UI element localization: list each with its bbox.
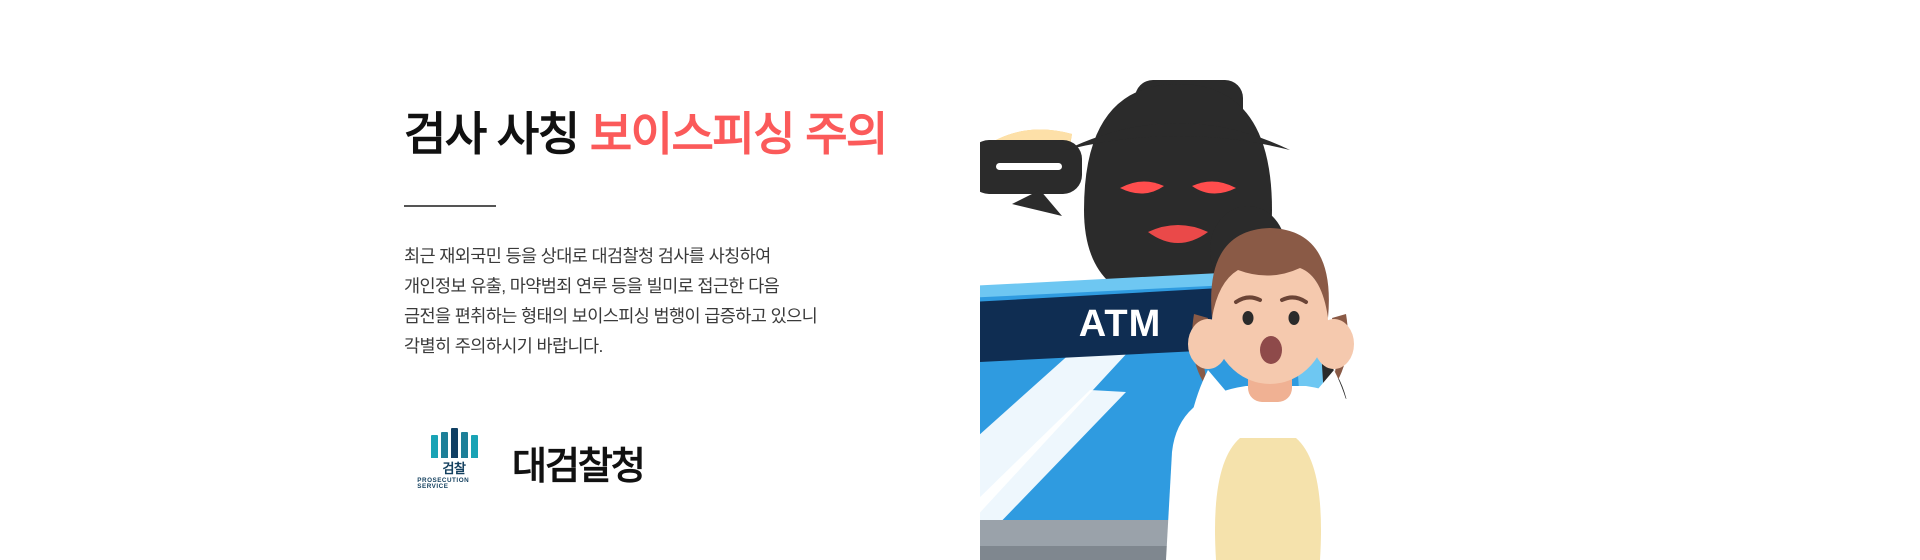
emblem-korean-label: 검찰 (443, 462, 466, 475)
body-line-2: 개인정보 유출, 마약범죄 연루 등을 빌미로 접근한 다음 (404, 271, 964, 301)
atm-label: ATM (1079, 303, 1162, 345)
copy-block: 검사 사칭 보이스피싱 주의 최근 재외국민 등을 상대로 대검찰청 검사를 사… (404, 108, 964, 361)
prosecution-service-logo: 검찰 PROSECUTION SERVICE 대검찰청 (418, 428, 644, 490)
speech-bubble-icon-2 (980, 140, 1082, 216)
emblem-english-label: PROSECUTION SERVICE (417, 478, 490, 490)
pillar-bars-icon (431, 428, 478, 458)
voice-phishing-warning-banner: 검사 사칭 보이스피싱 주의 최근 재외국민 등을 상대로 대검찰청 검사를 사… (0, 0, 1920, 560)
page-title: 검사 사칭 보이스피싱 주의 (404, 108, 964, 161)
title-divider (404, 205, 496, 207)
body-text: 최근 재외국민 등을 상대로 대검찰청 검사를 사칭하여 개인정보 유출, 마약… (404, 241, 964, 361)
body-line-1: 최근 재외국민 등을 상대로 대검찰청 검사를 사칭하여 (404, 241, 964, 271)
logo-wordmark: 대검찰청 (512, 448, 644, 490)
prosecution-emblem-icon: 검찰 PROSECUTION SERVICE (418, 428, 490, 490)
headline-red-part: 보이스피싱 주의 (590, 108, 887, 160)
scam-illustration: ATM (980, 0, 1920, 560)
body-line-3: 금전을 편취하는 형태의 보이스피싱 범행이 급증하고 있으니 (404, 301, 964, 331)
headline-black-part: 검사 사칭 (404, 108, 579, 160)
body-line-4: 각별히 주의하시기 바랍니다. (404, 331, 964, 361)
